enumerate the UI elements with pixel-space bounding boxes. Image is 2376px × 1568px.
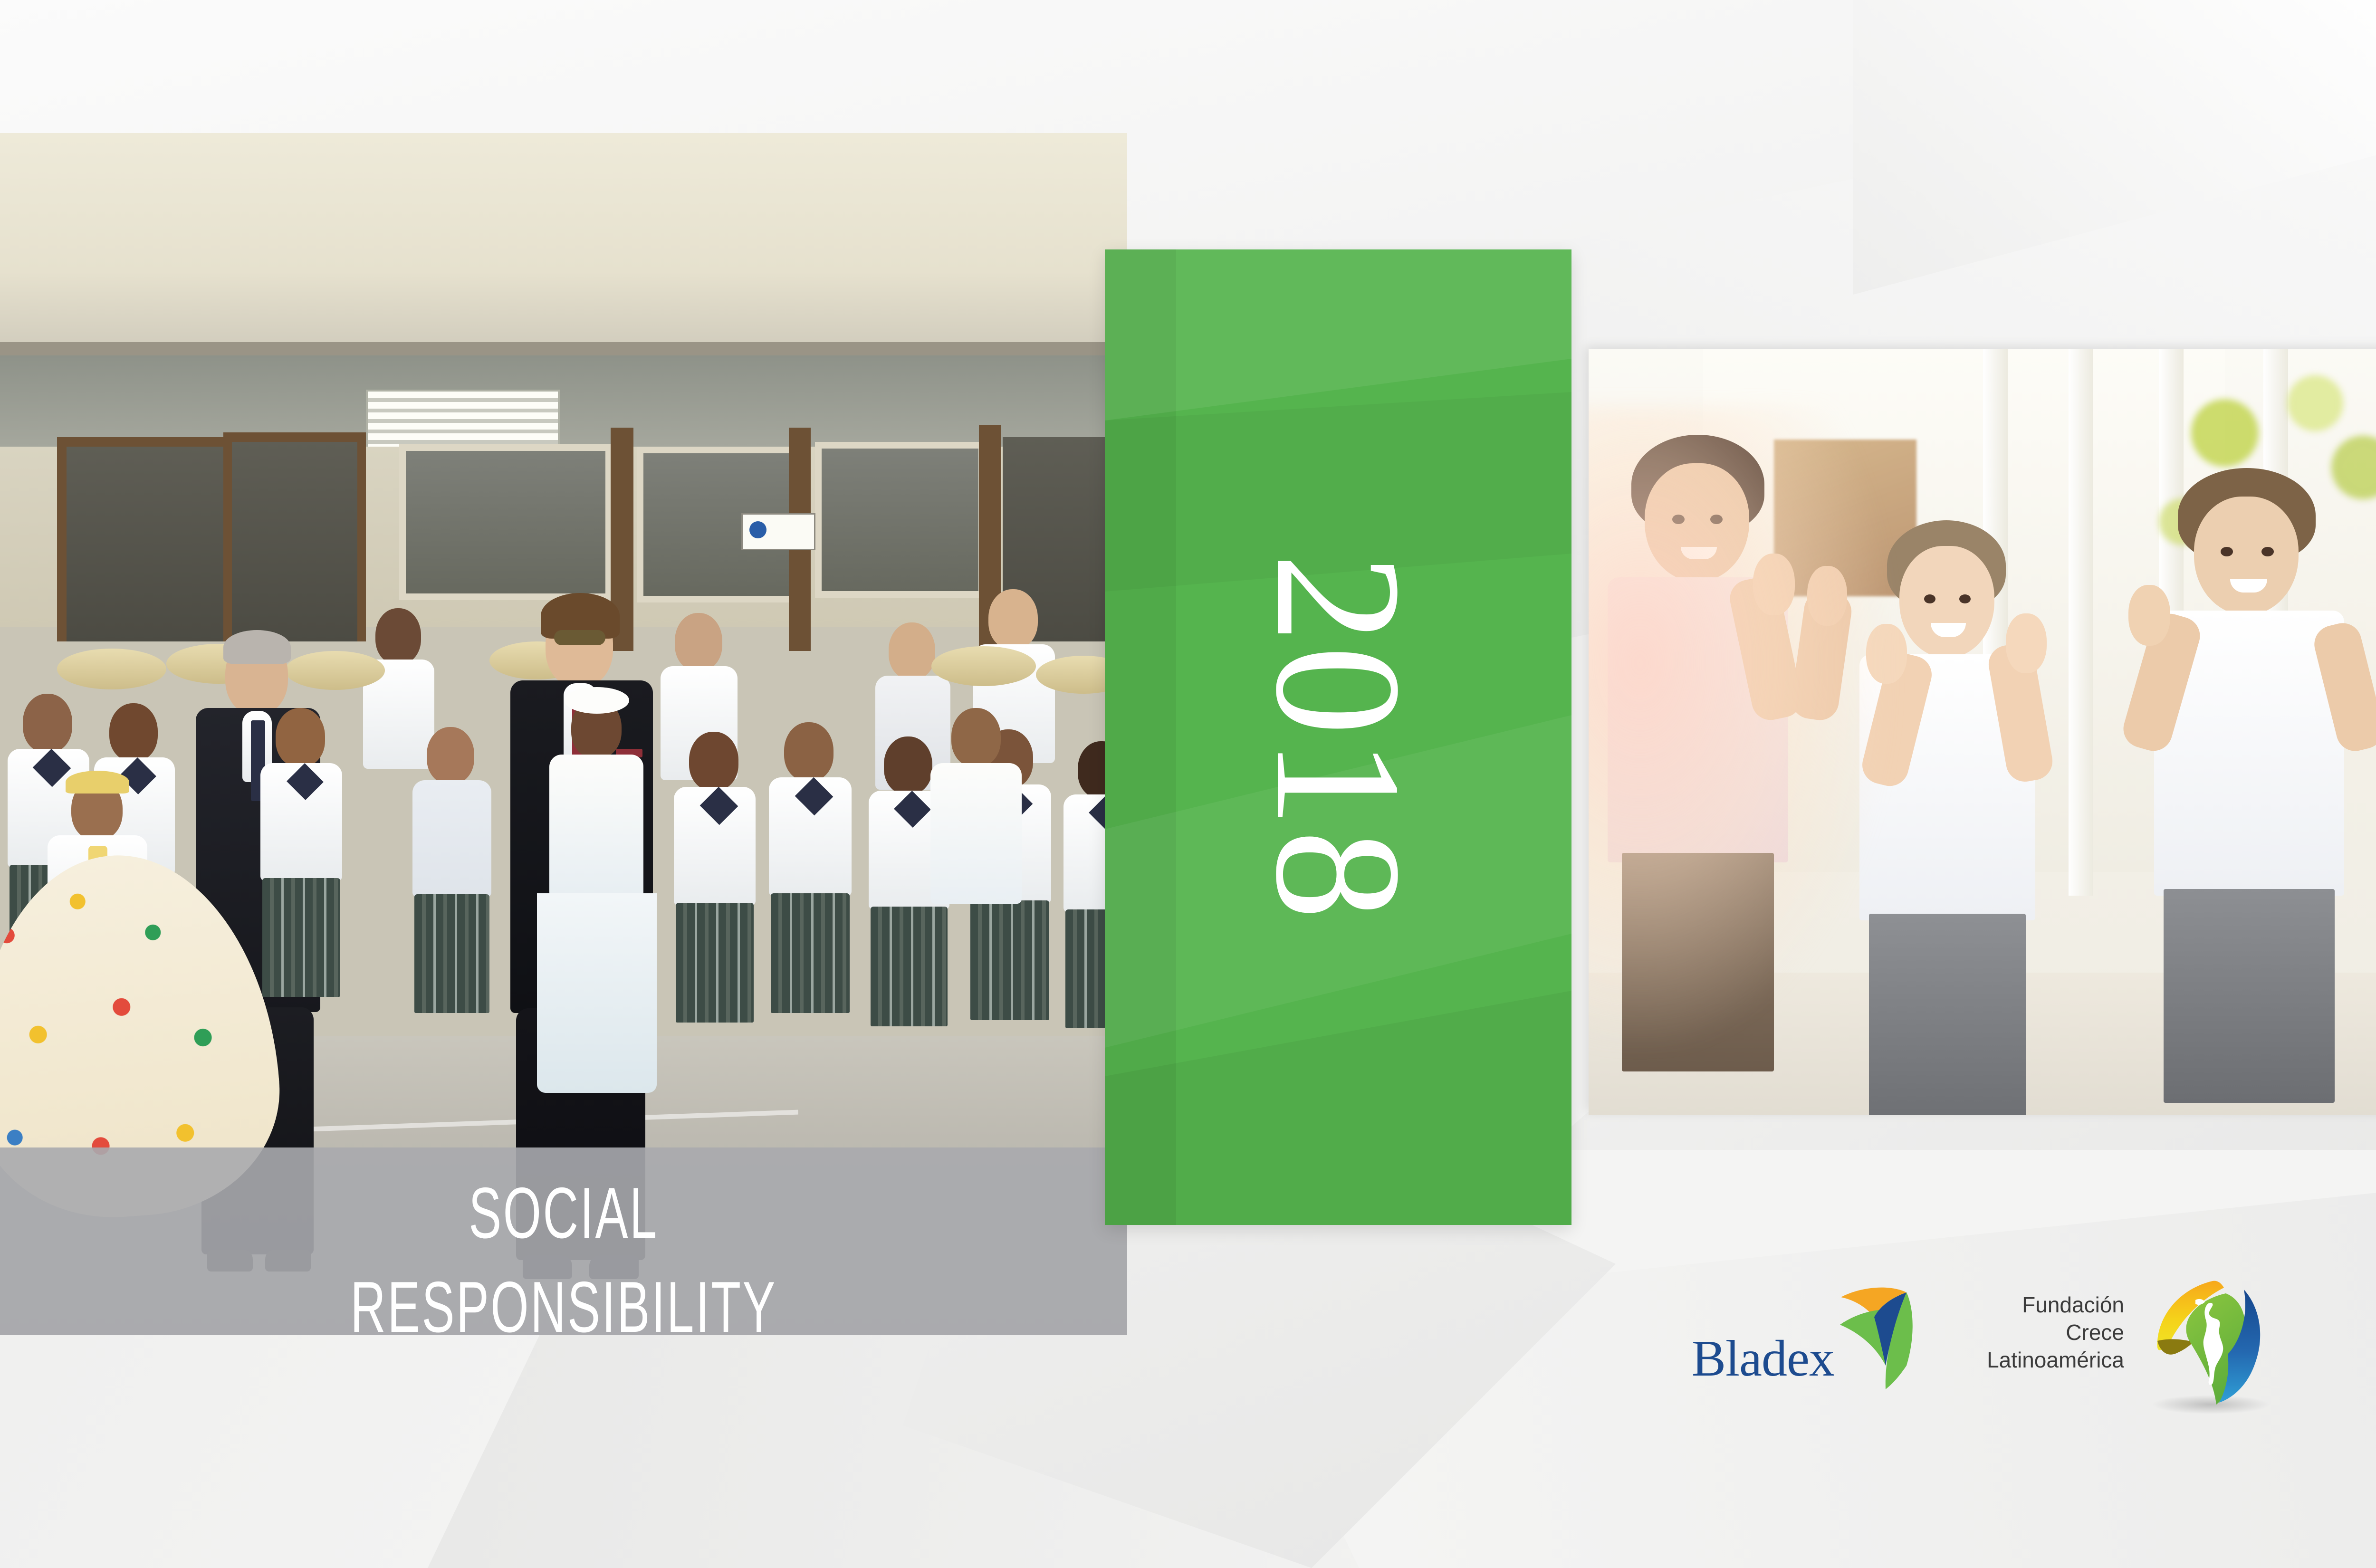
lens-flare [1589, 406, 1893, 1048]
window [815, 442, 985, 598]
year-panel: 2018 [1105, 249, 1571, 1225]
door [232, 442, 357, 641]
door [67, 447, 223, 641]
fundacion-line-1: Fundación [1967, 1291, 2124, 1319]
straw-hat [285, 651, 385, 690]
fundacion-crece-latinoamerica-logo: Fundación Crece Latinoamérica [1967, 1264, 2300, 1421]
fundacion-line-2: Crece [1967, 1319, 2124, 1347]
building-wall [0, 133, 1127, 356]
bladex-leaf-mark-icon [1834, 1281, 1929, 1390]
bladex-logo: Bladex [1692, 1283, 1929, 1392]
title-line-1: SOCIAL [181, 1166, 947, 1261]
fundacion-wordmark: Fundación Crece Latinoamérica [1967, 1291, 2124, 1374]
year-label: 2018 [1248, 553, 1428, 922]
fundacion-line-3: Latinoamérica [1967, 1347, 2124, 1374]
report-cover: SOCIAL RESPONSIBILITY REPORT 2018 [0, 0, 2376, 1568]
logo-row: Bladex Fundación Crece Latinoamérica [1692, 1235, 2305, 1425]
students-thumbsup-photo [1589, 349, 2376, 1115]
corridor-pillar [2069, 349, 2093, 896]
window [399, 444, 612, 600]
straw-hat [57, 649, 166, 689]
sign-seal-icon [749, 521, 766, 538]
cover-title: SOCIAL RESPONSIBILITY REPORT [181, 1166, 947, 1335]
bladex-wordmark: Bladex [1692, 1329, 1834, 1388]
fundacion-globe-swoosh-mark-icon [2124, 1264, 2281, 1421]
ceremony-photo: SOCIAL RESPONSIBILITY REPORT [0, 133, 1127, 1335]
building-soffit [0, 355, 1127, 450]
title-line-2: RESPONSIBILITY [181, 1261, 947, 1335]
classroom-sign [741, 513, 815, 550]
ceiling-light-fixture [366, 390, 560, 450]
straw-hat [931, 646, 1036, 686]
panel-band [1105, 249, 1571, 421]
building-eave [0, 342, 1127, 356]
